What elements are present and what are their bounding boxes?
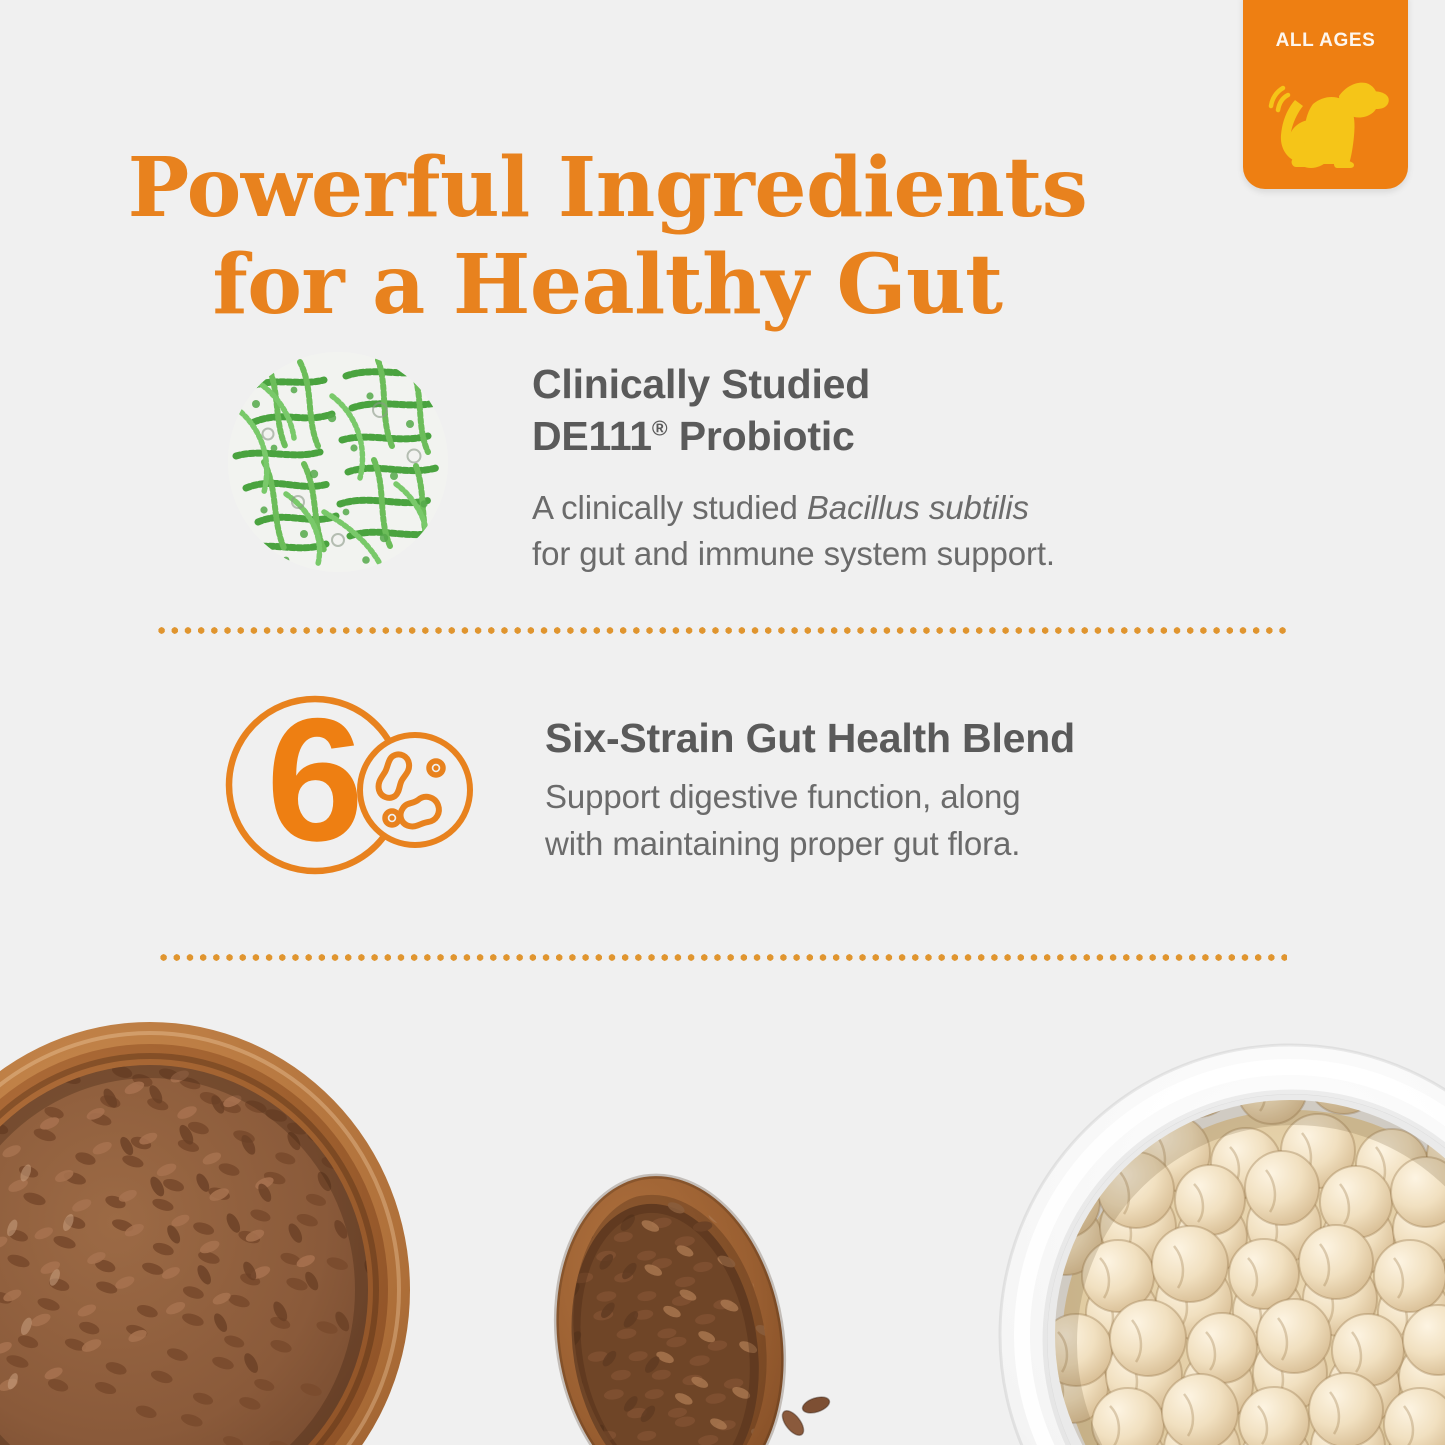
registered-trademark-icon: ® [652, 417, 668, 441]
feature-blend-desc-line-1: Support digestive function, along [545, 778, 1021, 815]
divider-top [155, 626, 1288, 635]
feature-probiotic-title-line-2-prefix: DE111 [532, 413, 652, 459]
feature-probiotic-desc-line-2: for gut and immune system support. [532, 535, 1055, 572]
page-title-line-1: Powerful Ingredients [128, 140, 1088, 236]
number-six-probiotic-circle-icon: 6 [222, 690, 477, 880]
feature-probiotic-description: A clinically studied Bacillus subtilis f… [532, 485, 1288, 577]
feature-probiotic-title-line-1: Clinically Studied [532, 361, 870, 407]
feature-probiotic-desc-before: A clinically studied [532, 489, 807, 526]
page-title-line-2: for a Healthy Gut [0, 237, 1215, 334]
scattered-flaxseeds [778, 1394, 1234, 1445]
all-ages-badge: ALL AGES [1243, 0, 1408, 189]
feature-blend-title: Six-Strain Gut Health Blend [545, 712, 1292, 764]
sitting-dog-wagging-tail-icon [1261, 62, 1391, 174]
microscope-bacteria-circle-icon [228, 352, 448, 572]
page-title: Powerful Ingredients for a Healthy Gut [0, 140, 1215, 334]
ingredients-infographic: ALL AGES [0, 0, 1445, 1445]
bottom-caption-line-1: Flaxseed and pea flour [549, 1007, 911, 1048]
all-ages-badge-label: ALL AGES [1243, 30, 1408, 52]
six-numeral: 6 [266, 690, 363, 878]
feature-blend-description: Support digestive function, along with m… [545, 774, 1292, 866]
chickpea-white-bowl-photo [1000, 1040, 1445, 1445]
bottom-caption-line-2: for digestive health. [425, 1054, 1035, 1106]
feature-blend: 6 [222, 690, 1292, 880]
feature-probiotic-title: Clinically Studied DE111® Probiotic [532, 358, 1288, 463]
feature-probiotic-title-line-2-suffix: Probiotic [668, 413, 855, 459]
divider-bottom [157, 953, 1287, 962]
feature-blend-desc-line-2: with maintaining proper gut flora. [545, 825, 1020, 862]
feature-probiotic: Clinically Studied DE111® Probiotic A cl… [228, 352, 1288, 577]
flaxseed-wooden-spoon-photo [533, 1154, 1234, 1445]
feature-probiotic-desc-species: Bacillus subtilis [807, 489, 1029, 526]
bottom-caption: Flaxseed and pea flour for digestive hea… [425, 1002, 1035, 1106]
